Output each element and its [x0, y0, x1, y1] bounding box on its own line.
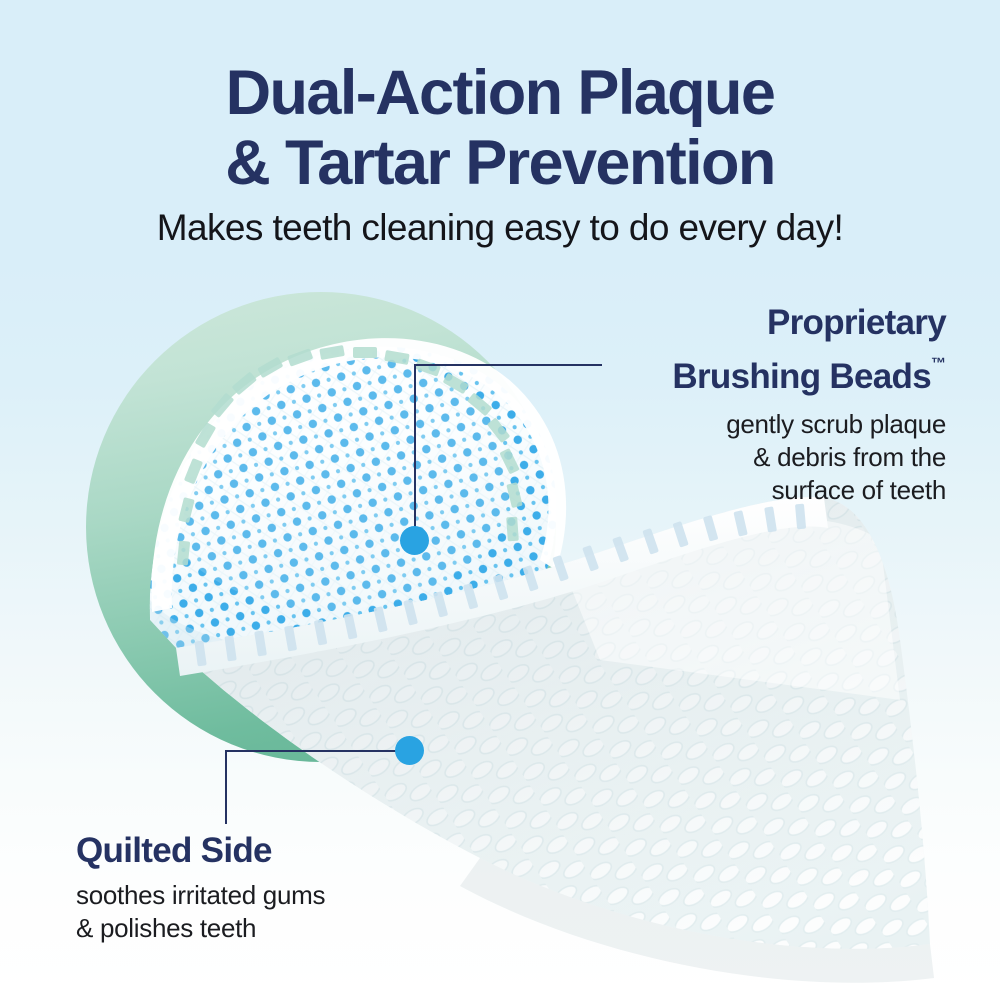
headline-line-1: Dual-Action Plaque: [226, 58, 775, 128]
callout-brushing-beads-title: Proprietary Brushing Beads™: [536, 302, 946, 397]
callout-quilted-body-line-1: soothes irritated gums: [76, 879, 496, 912]
trademark-icon: ™: [931, 355, 946, 372]
leader-line-quilted-horizontal: [225, 750, 410, 752]
callout-quilted-side: Quilted Side soothes irritated gums & po…: [76, 830, 496, 945]
callout-quilted-side-title: Quilted Side: [76, 830, 496, 871]
callout-quilted-body-line-2: & polishes teeth: [76, 912, 496, 945]
leader-line-quilted-vertical: [225, 750, 227, 824]
subheadline: Makes teeth cleaning easy to do every da…: [0, 206, 1000, 250]
callout-beads-body-line-2: & debris from the: [536, 441, 946, 474]
callout-beads-title-line-2: Brushing Beads: [672, 357, 931, 396]
callout-brushing-beads: Proprietary Brushing Beads™ gently scrub…: [536, 302, 946, 507]
circle-marker-icon-beads: [400, 526, 429, 555]
mint-circle-backdrop: [86, 292, 556, 762]
leader-line-beads-vertical: [414, 364, 416, 542]
infographic-canvas: Dual-Action Plaque & Tartar Prevention M…: [0, 0, 1000, 1000]
callout-beads-body-line-1: gently scrub plaque: [536, 408, 946, 441]
callout-beads-body-line-3: surface of teeth: [536, 474, 946, 507]
circle-marker-icon-quilted: [395, 736, 424, 765]
callout-quilted-side-body: soothes irritated gums & polishes teeth: [76, 879, 496, 945]
product-shadow: [460, 858, 934, 983]
callout-brushing-beads-body: gently scrub plaque & debris from the su…: [536, 408, 946, 507]
page-title: Dual-Action Plaque & Tartar Prevention: [0, 58, 1000, 198]
headline-line-2: & Tartar Prevention: [0, 128, 1000, 198]
callout-beads-title-line-1: Proprietary: [767, 303, 946, 342]
